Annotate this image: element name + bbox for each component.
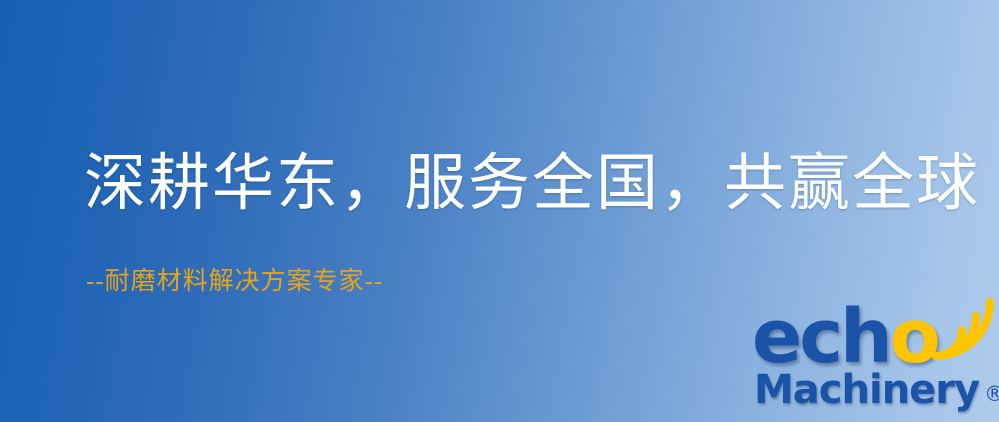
banner-subtitle: --耐磨材料解决方案专家--: [86, 268, 383, 296]
banner-headline: 深耕华东，服务全国，共赢全球: [84, 152, 980, 217]
logo-text-machinery: Machinery: [754, 370, 979, 410]
logo-text-ech: ech: [752, 300, 890, 374]
logo-mark: ech o Machinery ®: [742, 298, 999, 422]
logo-wordmark-echo: ech o: [752, 300, 939, 372]
echo-machinery-logo: ech o Machinery ®: [742, 298, 999, 422]
logo-wordmark-machinery: Machinery ®: [754, 370, 999, 410]
echo-signal-arcs-icon: [928, 294, 999, 368]
promo-banner: 深耕华东，服务全国，共赢全球 --耐磨材料解决方案专家-- ech o Mach…: [0, 0, 999, 422]
registered-trademark-icon: ®: [984, 384, 999, 405]
